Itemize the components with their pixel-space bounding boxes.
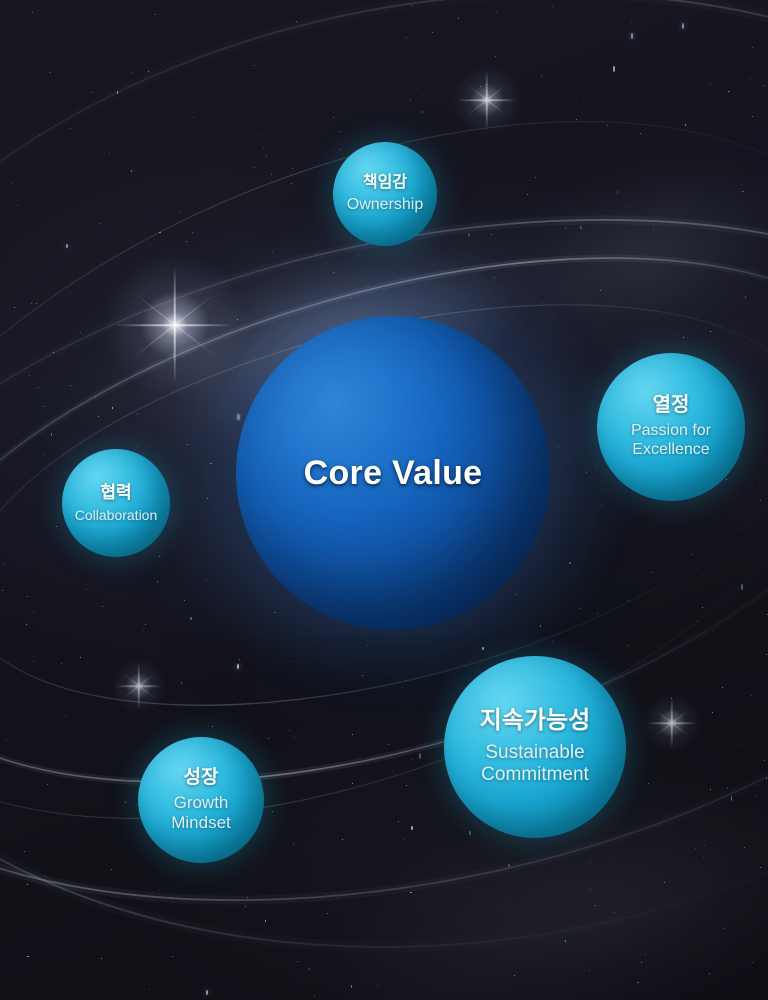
star <box>136 804 137 805</box>
star <box>552 641 553 642</box>
star <box>641 962 642 963</box>
star <box>117 91 119 94</box>
value-label-ko: 열정 <box>653 394 690 416</box>
star <box>516 594 517 595</box>
star <box>292 168 293 169</box>
star <box>760 867 761 868</box>
star <box>210 463 212 465</box>
star <box>137 446 138 447</box>
star <box>367 645 368 646</box>
star <box>704 845 705 846</box>
value-label-en-line: Commitment <box>481 764 589 786</box>
star-flare-spike <box>655 709 690 736</box>
star <box>627 823 628 824</box>
star <box>724 928 725 929</box>
star <box>98 416 99 417</box>
star <box>234 145 235 146</box>
star <box>600 348 601 349</box>
star <box>237 664 239 669</box>
star <box>709 973 710 974</box>
star <box>579 608 580 609</box>
star <box>86 589 87 590</box>
star <box>402 687 403 688</box>
value-label-en-line: Collaboration <box>75 507 158 524</box>
star <box>741 584 743 590</box>
star <box>404 839 405 840</box>
star-flare-glow <box>100 250 250 400</box>
star <box>586 472 587 473</box>
star <box>744 847 745 848</box>
star <box>27 956 28 957</box>
star <box>494 277 495 278</box>
star <box>44 406 45 407</box>
star-flare-spike <box>486 71 488 129</box>
value-label-en: SustainableCommitment <box>481 742 589 787</box>
star <box>540 625 541 626</box>
star-flare <box>641 692 703 754</box>
value-bubble-ownership[interactable]: 책임감Ownership <box>333 142 437 246</box>
core-value-sphere[interactable]: Core Value <box>236 316 550 630</box>
star <box>327 913 329 915</box>
star <box>293 843 294 844</box>
star <box>766 778 767 779</box>
star <box>731 796 733 801</box>
star <box>482 647 484 651</box>
star <box>220 92 221 93</box>
star <box>101 958 102 959</box>
star <box>263 147 264 148</box>
star <box>712 630 713 631</box>
star <box>749 766 750 767</box>
star <box>274 612 275 613</box>
star <box>422 111 423 112</box>
star <box>31 303 32 304</box>
star <box>143 630 144 631</box>
star <box>125 802 126 803</box>
star <box>26 624 27 625</box>
star <box>66 244 68 248</box>
star <box>14 307 15 308</box>
star <box>613 828 614 829</box>
value-label-en: Collaboration <box>75 507 158 524</box>
star <box>266 156 267 157</box>
star-flare-spike <box>467 84 507 116</box>
star <box>95 397 96 398</box>
value-bubble-sustainable[interactable]: 지속가능성SustainableCommitment <box>444 656 626 838</box>
star <box>254 167 255 168</box>
star <box>745 296 747 298</box>
star <box>61 663 62 664</box>
star <box>242 979 243 980</box>
star <box>148 71 149 72</box>
star <box>53 352 54 353</box>
value-bubble-collaboration[interactable]: 협력Collaboration <box>62 449 170 557</box>
star <box>569 562 571 564</box>
star <box>766 654 767 655</box>
star <box>56 526 58 528</box>
star <box>245 906 246 907</box>
star <box>272 251 273 252</box>
star <box>406 37 407 38</box>
star <box>145 624 146 625</box>
star <box>690 671 691 672</box>
star <box>479 34 480 35</box>
star <box>621 509 622 510</box>
value-label-ko: 지속가능성 <box>480 708 590 735</box>
star <box>752 47 753 48</box>
star-flare-spike <box>135 293 216 356</box>
star <box>111 869 112 870</box>
value-label-en: GrowthMindset <box>171 793 231 833</box>
star <box>757 784 758 785</box>
star <box>237 319 238 320</box>
star <box>600 290 601 291</box>
star <box>508 864 510 866</box>
star <box>726 479 727 480</box>
star <box>131 72 133 74</box>
value-label-ko: 책임감 <box>363 174 407 192</box>
star <box>514 975 515 976</box>
value-label-ko: 협력 <box>100 483 131 502</box>
star <box>91 92 92 93</box>
star <box>358 254 359 255</box>
star <box>29 375 30 376</box>
star <box>289 730 290 731</box>
value-bubble-passion[interactable]: 열정Passion forExcellence <box>597 353 745 501</box>
star <box>32 12 33 13</box>
star <box>411 826 413 830</box>
star <box>39 134 40 135</box>
star <box>628 600 629 601</box>
star <box>580 226 582 230</box>
star <box>468 233 470 238</box>
star-flare <box>450 63 524 137</box>
star <box>595 465 596 466</box>
star-flare <box>100 250 250 400</box>
star <box>637 982 639 984</box>
star <box>393 770 394 771</box>
star <box>751 695 752 696</box>
star-flare-glow <box>450 63 524 137</box>
star-flare-spike <box>647 722 697 724</box>
star <box>607 125 608 126</box>
star <box>172 956 173 957</box>
star <box>722 687 724 689</box>
star <box>308 968 310 970</box>
star-flare <box>110 657 168 715</box>
star <box>258 134 259 135</box>
star <box>617 190 619 194</box>
star <box>491 234 492 235</box>
star <box>419 753 421 760</box>
star <box>47 784 48 785</box>
star <box>410 100 411 101</box>
star <box>553 318 554 319</box>
star <box>193 117 194 118</box>
star <box>685 124 687 126</box>
star <box>239 659 240 660</box>
star-flare-spike <box>123 673 155 698</box>
star <box>100 223 101 224</box>
star <box>495 56 496 57</box>
star <box>86 964 87 965</box>
star <box>759 482 760 483</box>
star <box>131 170 133 172</box>
star <box>45 875 46 876</box>
star-flare-spike <box>116 324 234 326</box>
star <box>752 116 753 117</box>
star <box>265 920 267 922</box>
star <box>27 884 28 885</box>
star <box>432 32 433 33</box>
star <box>458 18 459 19</box>
star <box>662 180 663 181</box>
star <box>550 353 551 354</box>
value-label-ko: 성장 <box>184 767 219 788</box>
star <box>159 232 160 233</box>
star <box>6 739 7 740</box>
star <box>411 5 412 6</box>
star <box>410 892 412 894</box>
star <box>193 147 194 148</box>
star <box>565 228 566 229</box>
star <box>33 661 34 662</box>
star <box>11 183 12 184</box>
star <box>682 23 684 30</box>
star <box>24 851 25 852</box>
value-label-en-line: Mindset <box>171 813 231 833</box>
star <box>527 194 528 195</box>
star-flare-spike <box>138 663 140 709</box>
star <box>342 839 343 840</box>
star <box>697 569 698 570</box>
star <box>254 65 255 66</box>
star <box>247 897 248 898</box>
star <box>591 862 592 863</box>
star <box>80 657 81 658</box>
star <box>157 581 158 582</box>
star <box>352 783 353 784</box>
star <box>755 795 756 796</box>
star <box>102 606 103 607</box>
star <box>459 922 460 923</box>
star <box>137 413 138 414</box>
star <box>710 789 711 790</box>
star <box>362 675 363 676</box>
star <box>712 712 713 713</box>
value-label-en-line: Excellence <box>631 441 711 460</box>
star <box>80 332 81 333</box>
star <box>552 6 553 7</box>
star <box>496 11 497 12</box>
star <box>293 737 295 739</box>
star <box>326 767 327 768</box>
value-label-en: Passion forExcellence <box>631 422 711 460</box>
star <box>184 600 185 601</box>
star <box>237 414 239 420</box>
star <box>27 596 28 597</box>
star <box>155 14 156 15</box>
star-flare-spike <box>116 685 162 687</box>
star <box>741 745 742 746</box>
star <box>597 613 598 614</box>
star <box>727 788 728 789</box>
value-label-en-line: Growth <box>171 793 231 813</box>
star <box>589 970 590 971</box>
star <box>728 91 729 92</box>
star <box>314 996 315 997</box>
star <box>426 746 427 747</box>
star <box>159 890 160 891</box>
star <box>469 831 471 834</box>
star <box>412 759 413 760</box>
star <box>651 572 652 573</box>
value-bubble-growth[interactable]: 성장GrowthMindset <box>138 737 264 863</box>
star <box>333 117 334 118</box>
star <box>159 556 160 557</box>
star <box>742 191 743 192</box>
star <box>70 385 71 386</box>
star-flare-glow <box>110 657 168 715</box>
star <box>583 98 584 99</box>
star <box>51 433 53 437</box>
star-flare-spike <box>655 709 690 736</box>
star <box>207 498 208 499</box>
star <box>628 645 629 646</box>
star <box>36 303 37 304</box>
star <box>376 260 377 261</box>
star <box>413 257 414 258</box>
star <box>149 989 150 990</box>
value-label-en: Ownership <box>347 196 423 215</box>
star <box>595 905 596 906</box>
star <box>645 954 646 955</box>
value-label-en-line: Passion for <box>631 422 711 441</box>
star <box>272 811 273 812</box>
star <box>640 133 641 134</box>
star <box>291 183 292 184</box>
star <box>212 726 213 727</box>
star <box>186 241 187 242</box>
star <box>172 902 173 903</box>
star <box>213 296 214 297</box>
star <box>631 33 633 39</box>
star <box>541 75 542 76</box>
star <box>648 783 649 784</box>
star <box>576 119 577 120</box>
star <box>398 821 399 822</box>
star <box>480 86 481 87</box>
star <box>333 272 334 273</box>
star <box>764 760 765 761</box>
star <box>206 579 207 580</box>
star <box>671 698 672 699</box>
star <box>631 22 633 24</box>
star <box>2 590 3 591</box>
star <box>683 337 684 338</box>
star <box>734 51 735 52</box>
star <box>760 500 761 501</box>
value-label-en-line: Sustainable <box>481 742 589 764</box>
star <box>180 211 182 213</box>
star-flare-spike <box>467 84 507 116</box>
star <box>377 985 378 986</box>
star <box>601 505 602 506</box>
star <box>695 848 696 849</box>
star <box>763 85 764 86</box>
star <box>498 944 499 945</box>
star <box>653 229 654 230</box>
star <box>339 131 340 132</box>
star <box>664 882 665 883</box>
star-flare-spike <box>671 698 673 748</box>
star <box>49 72 51 74</box>
star <box>192 232 193 233</box>
star-flare-glow <box>641 692 703 754</box>
star <box>326 263 327 264</box>
star <box>697 621 698 622</box>
star <box>289 661 290 662</box>
star <box>190 617 192 620</box>
star <box>315 254 316 255</box>
star <box>102 838 103 839</box>
star <box>109 153 110 154</box>
star <box>112 407 113 408</box>
star <box>206 990 208 995</box>
star-flare-spike <box>458 99 516 101</box>
star <box>173 353 175 355</box>
star <box>4 563 5 564</box>
star <box>535 177 536 178</box>
star <box>181 682 183 684</box>
star <box>268 738 269 739</box>
star <box>422 94 423 95</box>
star <box>558 446 559 447</box>
star-flare-spike <box>135 293 216 356</box>
star <box>702 607 703 608</box>
core-value-infographic: Core Value 책임감Ownership열정Passion forExce… <box>0 0 768 1000</box>
star <box>43 454 44 455</box>
value-label-en-line: Ownership <box>347 196 423 215</box>
star <box>710 83 711 84</box>
star <box>296 21 297 22</box>
star <box>613 66 615 72</box>
star <box>271 174 272 175</box>
star <box>118 324 119 325</box>
star <box>614 912 615 913</box>
star <box>406 785 407 786</box>
star <box>189 51 190 52</box>
star <box>38 387 39 388</box>
star <box>692 554 693 555</box>
star <box>589 889 591 891</box>
star <box>752 962 753 963</box>
star <box>565 940 567 942</box>
star <box>750 78 751 79</box>
star <box>33 612 34 613</box>
star <box>703 857 704 858</box>
star <box>351 985 353 988</box>
star <box>542 303 543 304</box>
star <box>350 297 352 299</box>
star <box>388 744 389 745</box>
star <box>17 205 18 206</box>
star <box>297 961 298 962</box>
star <box>740 457 741 458</box>
star-flare-spike <box>123 673 155 698</box>
star <box>478 914 479 915</box>
star <box>340 149 341 150</box>
